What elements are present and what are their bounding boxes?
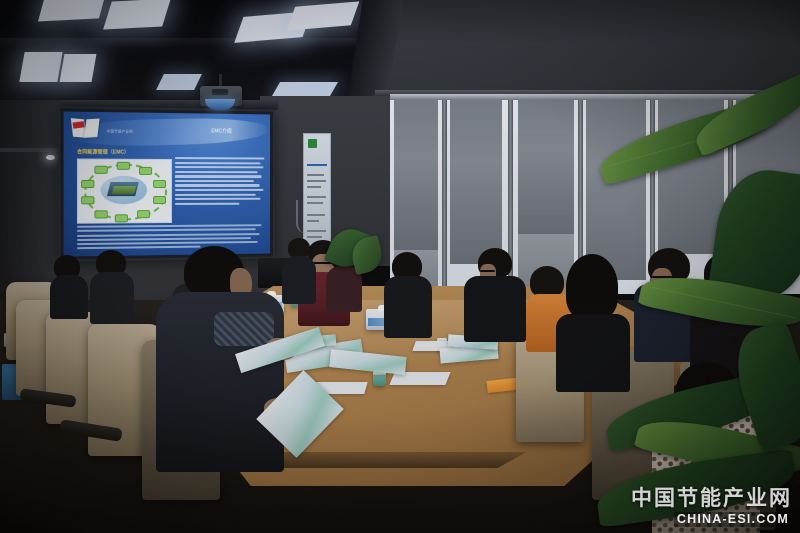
hanging-cable [296, 200, 307, 234]
conference-room-photo: 中国节能产业网 EMC介绍 合同能源管理（EMC） [0, 0, 800, 533]
ceiling-light-panel [156, 74, 202, 90]
notice-board [303, 133, 331, 253]
ceiling-light-panel [19, 52, 62, 82]
projection-screen: 中国节能产业网 EMC介绍 合同能源管理（EMC） [58, 106, 274, 261]
diagram-node [153, 180, 166, 188]
diagram-node [81, 196, 94, 204]
diagram-node [81, 180, 94, 188]
slide-title-text: 合同能源管理（EMC） [77, 148, 129, 155]
notice-board-line [307, 174, 324, 176]
blind-rail [390, 94, 800, 100]
window-blind [586, 94, 646, 280]
notice-board-line [307, 230, 326, 232]
eyeglasses-icon [480, 270, 495, 272]
diagram-node [153, 196, 166, 204]
ceiling-soffit [375, 0, 800, 96]
presentation-slide: 中国节能产业网 EMC介绍 合同能源管理（EMC） [64, 111, 271, 256]
notice-board-line [307, 180, 326, 182]
ceiling-light-panel [272, 82, 338, 96]
watermark-chinese: 中国节能产业网 [631, 488, 792, 509]
ceiling-light-panel [103, 0, 171, 29]
notice-board-line [307, 186, 321, 188]
window-mullion [442, 94, 447, 294]
diagram-node [94, 166, 107, 174]
diagram-node [94, 210, 107, 218]
ceiling-light-panel [60, 54, 97, 82]
watermark-latin: CHINA-ESI.COM [674, 512, 792, 527]
diagram-node [139, 167, 152, 175]
diagram-node [117, 162, 130, 170]
notice-board-line [307, 236, 322, 238]
wall-downlight [46, 155, 55, 160]
ceiling-light-panel [38, 0, 106, 22]
notice-board-line [307, 214, 325, 216]
notice-board-heading [307, 164, 327, 166]
window-blind [518, 94, 574, 234]
slide-body-text [175, 157, 264, 207]
notice-board-logo-icon [308, 139, 317, 148]
slide-logo-icon [72, 119, 103, 140]
projector-detail [212, 89, 228, 95]
diagram-node [137, 210, 150, 218]
notice-board-line [307, 220, 319, 222]
slide-diagram [77, 159, 172, 224]
slide-header-text: EMC介绍 [211, 127, 232, 134]
slide-footer-text [77, 224, 262, 252]
notice-board-line [307, 202, 323, 204]
window-blind [450, 94, 502, 264]
window-blind [394, 94, 438, 250]
notice-board-line [307, 196, 326, 198]
diagram-node [115, 214, 128, 222]
diagram-core-object [112, 186, 136, 194]
watermark: 中国节能产业网 CHINA-ESI.COM [631, 488, 792, 527]
slide-brand-text: 中国节能产业网 [107, 128, 133, 133]
